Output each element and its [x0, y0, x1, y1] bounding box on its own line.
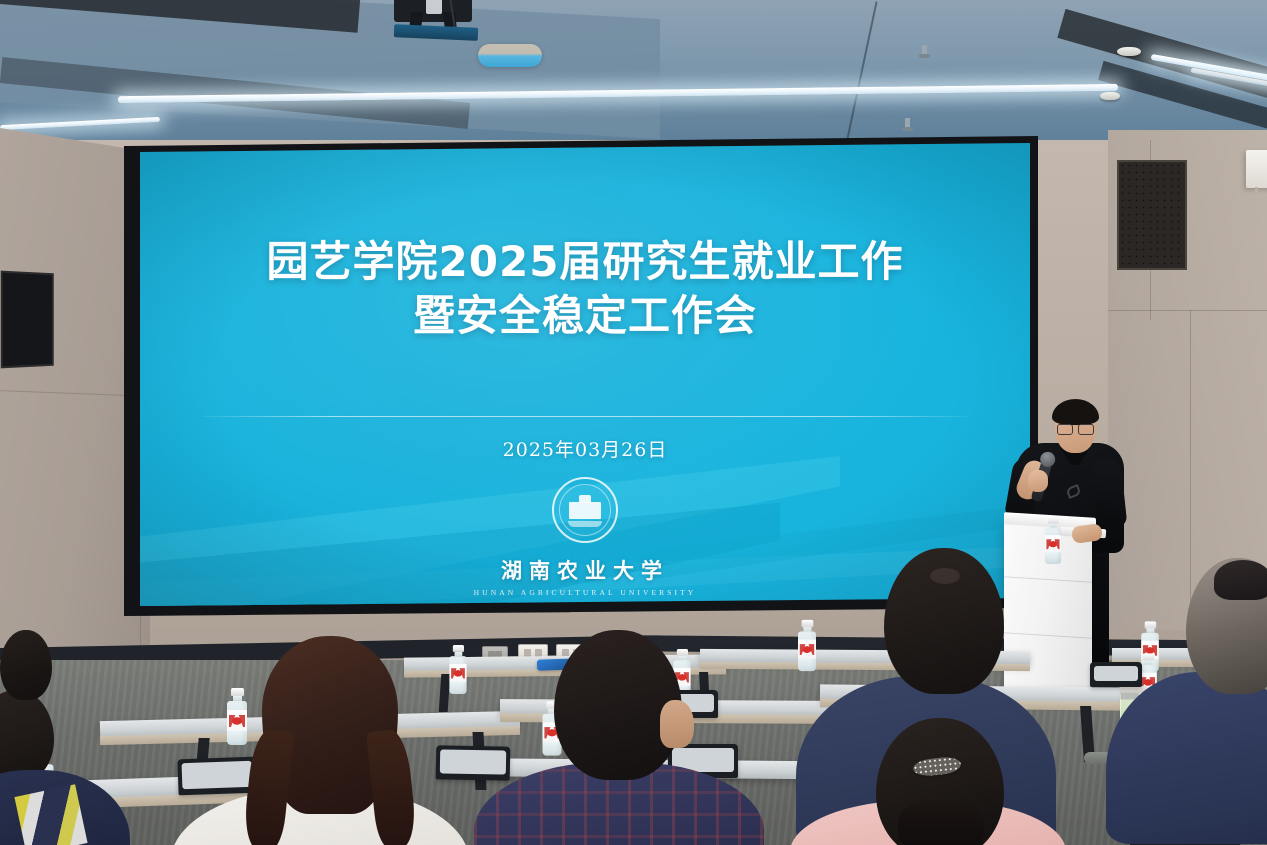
water-bottle-podium[interactable]	[1045, 517, 1061, 564]
recessed-ceiling-light	[478, 44, 542, 67]
person-hair-top	[1214, 560, 1267, 600]
wall-seam-right	[1108, 310, 1267, 311]
wall-seam-right-vertical	[1190, 310, 1191, 640]
slide-date: 2025年03月26日	[140, 435, 1030, 462]
slide-title-line-1: 园艺学院2025届研究生就业工作	[194, 235, 976, 289]
eyeglasses-icon	[1057, 424, 1094, 433]
wall-speaker-left-icon	[1, 271, 54, 369]
projector-mount-plate	[394, 24, 478, 41]
chair-back-left[interactable]	[177, 757, 256, 796]
ceiling-projector	[388, 0, 480, 44]
projector-lens-icon	[426, 0, 442, 14]
slide-title: 园艺学院2025届研究生就业工作 暨安全稳定工作会	[140, 235, 1030, 343]
slide-divider	[202, 416, 968, 417]
ceiling-seam	[844, 1, 877, 148]
person-crown	[930, 568, 960, 584]
university-seal-icon	[552, 477, 618, 543]
water-bottle-1[interactable]	[449, 645, 466, 694]
audience-partial-head	[0, 630, 52, 700]
wall-mounted-unit	[1246, 150, 1267, 188]
seal-building-icon	[569, 502, 601, 519]
water-bottle-6[interactable]	[227, 688, 247, 745]
smoke-detector-icon	[1117, 47, 1141, 56]
university-name-en: HUNAN AGRICULTURAL UNIVERSITY	[474, 588, 697, 597]
wall-speaker-right-icon	[1117, 160, 1187, 270]
presenter-left-hand	[1028, 470, 1048, 492]
slide-title-line-2: 暨安全稳定工作会	[194, 289, 976, 343]
person-ear	[660, 700, 694, 748]
sprinkler-icon-2	[905, 118, 910, 128]
smoke-detector-icon-2	[1100, 92, 1120, 100]
sprinkler-icon	[922, 45, 927, 58]
projection-screen[interactable]: 园艺学院2025届研究生就业工作 暨安全稳定工作会 2025年03月26日 湖南…	[140, 143, 1030, 606]
university-name-cn: 湖南农业大学	[501, 555, 669, 585]
chair-back-center[interactable]	[436, 745, 511, 780]
water-bottle-3[interactable]	[798, 620, 816, 671]
person-ponytail	[898, 800, 984, 845]
conference-room-photo: 园艺学院2025届研究生就业工作 暨安全稳定工作会 2025年03月26日 湖南…	[0, 0, 1267, 845]
chair-far-right[interactable]	[1090, 662, 1142, 687]
ceiling-led-strip-left	[0, 117, 160, 130]
ceiling	[0, 0, 1267, 148]
